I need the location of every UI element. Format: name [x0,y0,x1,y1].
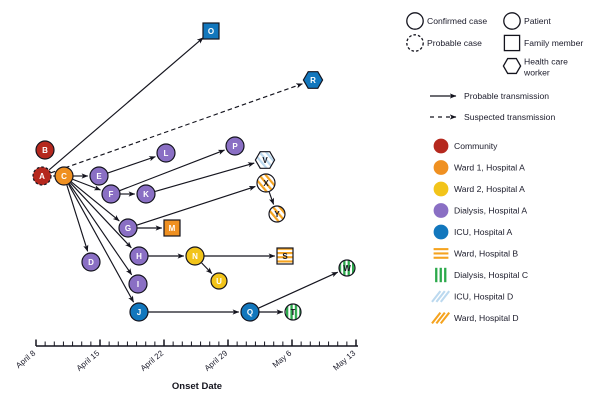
node-a[interactable]: A [33,167,51,185]
legend-label-community: Community [454,141,498,151]
legend-symbol-ward-1-hospital-a [434,160,449,175]
edge-c-to-j [69,184,134,302]
node-c[interactable]: C [55,167,73,185]
node-v[interactable]: V [255,152,274,169]
legend-label-probable-case: Probable case [427,38,482,48]
node-label-c: C [61,172,67,181]
node-label-s: S [282,252,288,261]
edge-x-to-y [269,192,273,204]
legend-symbol-probable-case [407,35,423,51]
node-b[interactable]: B [36,141,54,159]
legend-label-dialysis-hospital-c: Dialysis, Hospital C [454,270,528,280]
node-label-v: V [262,156,268,165]
node-k[interactable]: K [137,185,155,203]
legend-label-family-member: Family member [524,38,583,48]
legend-label-health-care-worker-line2: worker [523,68,550,78]
legend-label-dialysis-hospital-a: Dialysis, Hospital A [454,206,527,216]
legend-symbol-dialysis-hospital-c [435,268,446,282]
node-label-x: X [263,179,269,188]
axis-tick-label-0: April 8 [14,348,38,370]
legend-label-ward-2-hospital-a: Ward 2, Hospital A [454,184,525,194]
legend-symbol-confirmed-case [407,13,423,29]
node-g[interactable]: G [119,219,137,237]
node-label-o: O [208,27,214,36]
node-o[interactable]: O [203,23,219,39]
node-label-w: W [343,264,351,273]
legend-symbol-patient [504,13,520,29]
node-y[interactable]: Y [269,206,285,222]
node-label-h: H [136,252,142,261]
node-s[interactable]: S [277,248,293,264]
legend: Confirmed caseProbable casePatientFamily… [407,13,584,324]
node-label-f: F [109,190,114,199]
node-f[interactable]: F [102,185,120,203]
node-u[interactable]: U [211,273,227,289]
node-label-a: A [39,172,45,181]
node-m[interactable]: M [164,220,180,236]
legend-symbol-ward-hospital-b [434,248,449,259]
node-x[interactable]: X [257,174,275,192]
legend-label-icu-hospital-d: ICU, Hospital D [454,292,513,302]
legend-symbol-ward-hospital-d [432,313,449,324]
node-t[interactable]: T [285,304,301,320]
legend-label-ward-1-hospital-a: Ward 1, Hospital A [454,163,525,173]
legend-label-probable-transmission: Probable transmission [464,91,549,101]
legend-label-ward-hospital-b: Ward, Hospital B [454,249,518,259]
node-label-e: E [96,172,102,181]
node-l[interactable]: L [157,144,175,162]
node-i[interactable]: I [129,275,147,293]
legend-symbol-ward-2-hospital-a [434,182,449,197]
edge-q-to-w [259,272,338,308]
node-label-r: R [310,76,316,85]
axis-tick-label-2: April 22 [139,348,166,373]
node-label-t: T [291,308,296,317]
node-w[interactable]: W [339,260,355,276]
transmission-network-figure: ABCDEFGHIJKLMNOPQRSTUVWXY April 8April 1… [0,0,600,400]
node-e[interactable]: E [90,167,108,185]
node-p[interactable]: P [226,137,244,155]
legend-symbol-community [434,139,449,154]
edge-e-to-l [108,157,155,173]
node-n[interactable]: N [186,247,204,265]
onset-date-axis: April 8April 15April 22April 29May 6May … [14,340,358,393]
node-label-p: P [232,142,238,151]
node-label-u: U [216,277,222,286]
legend-label-health-care-worker: Health care [524,57,568,67]
legend-label-confirmed-case: Confirmed case [427,16,487,26]
node-q[interactable]: Q [241,303,259,321]
axis-title: Onset Date [172,381,222,392]
legend-label-patient: Patient [524,16,551,26]
node-label-d: D [88,258,94,267]
edge-k-to-v [155,163,254,191]
node-label-j: J [137,308,141,317]
edge-c-to-h [71,183,132,248]
axis-tick-label-3: April 29 [203,348,230,373]
node-label-m: M [169,224,176,233]
legend-symbol-health-care-worker [503,59,520,74]
legend-symbol-family-member [504,35,519,50]
edge-n-to-u [202,263,212,274]
node-label-k: K [143,190,149,199]
nodes-layer: ABCDEFGHIJKLMNOPQRSTUVWXY [33,23,355,321]
axis-tick-label-5: May 13 [331,348,357,372]
axis-tick-label-4: May 6 [271,348,294,369]
node-label-g: G [125,224,131,233]
node-label-l: L [164,149,169,158]
node-label-n: N [192,252,198,261]
legend-label-ward-hospital-d: Ward, Hospital D [454,313,519,323]
node-d[interactable]: D [82,253,100,271]
node-j[interactable]: J [130,303,148,321]
legend-label-icu-hospital-a: ICU, Hospital A [454,227,513,237]
node-label-i: I [137,280,139,289]
figure-root: ABCDEFGHIJKLMNOPQRSTUVWXY April 8April 1… [0,0,600,400]
legend-label-suspected-transmission: Suspected transmission [464,112,555,122]
legend-symbol-dialysis-hospital-a [434,203,449,218]
legend-symbol-icu-hospital-d [432,291,449,302]
legend-symbol-icu-hospital-a [434,225,449,240]
node-label-q: Q [247,308,253,317]
node-label-b: B [42,146,48,155]
edge-a-to-o [49,38,203,170]
node-label-y: Y [274,210,280,219]
node-h[interactable]: H [130,247,148,265]
axis-tick-label-1: April 15 [75,348,102,373]
node-r[interactable]: R [303,72,322,89]
